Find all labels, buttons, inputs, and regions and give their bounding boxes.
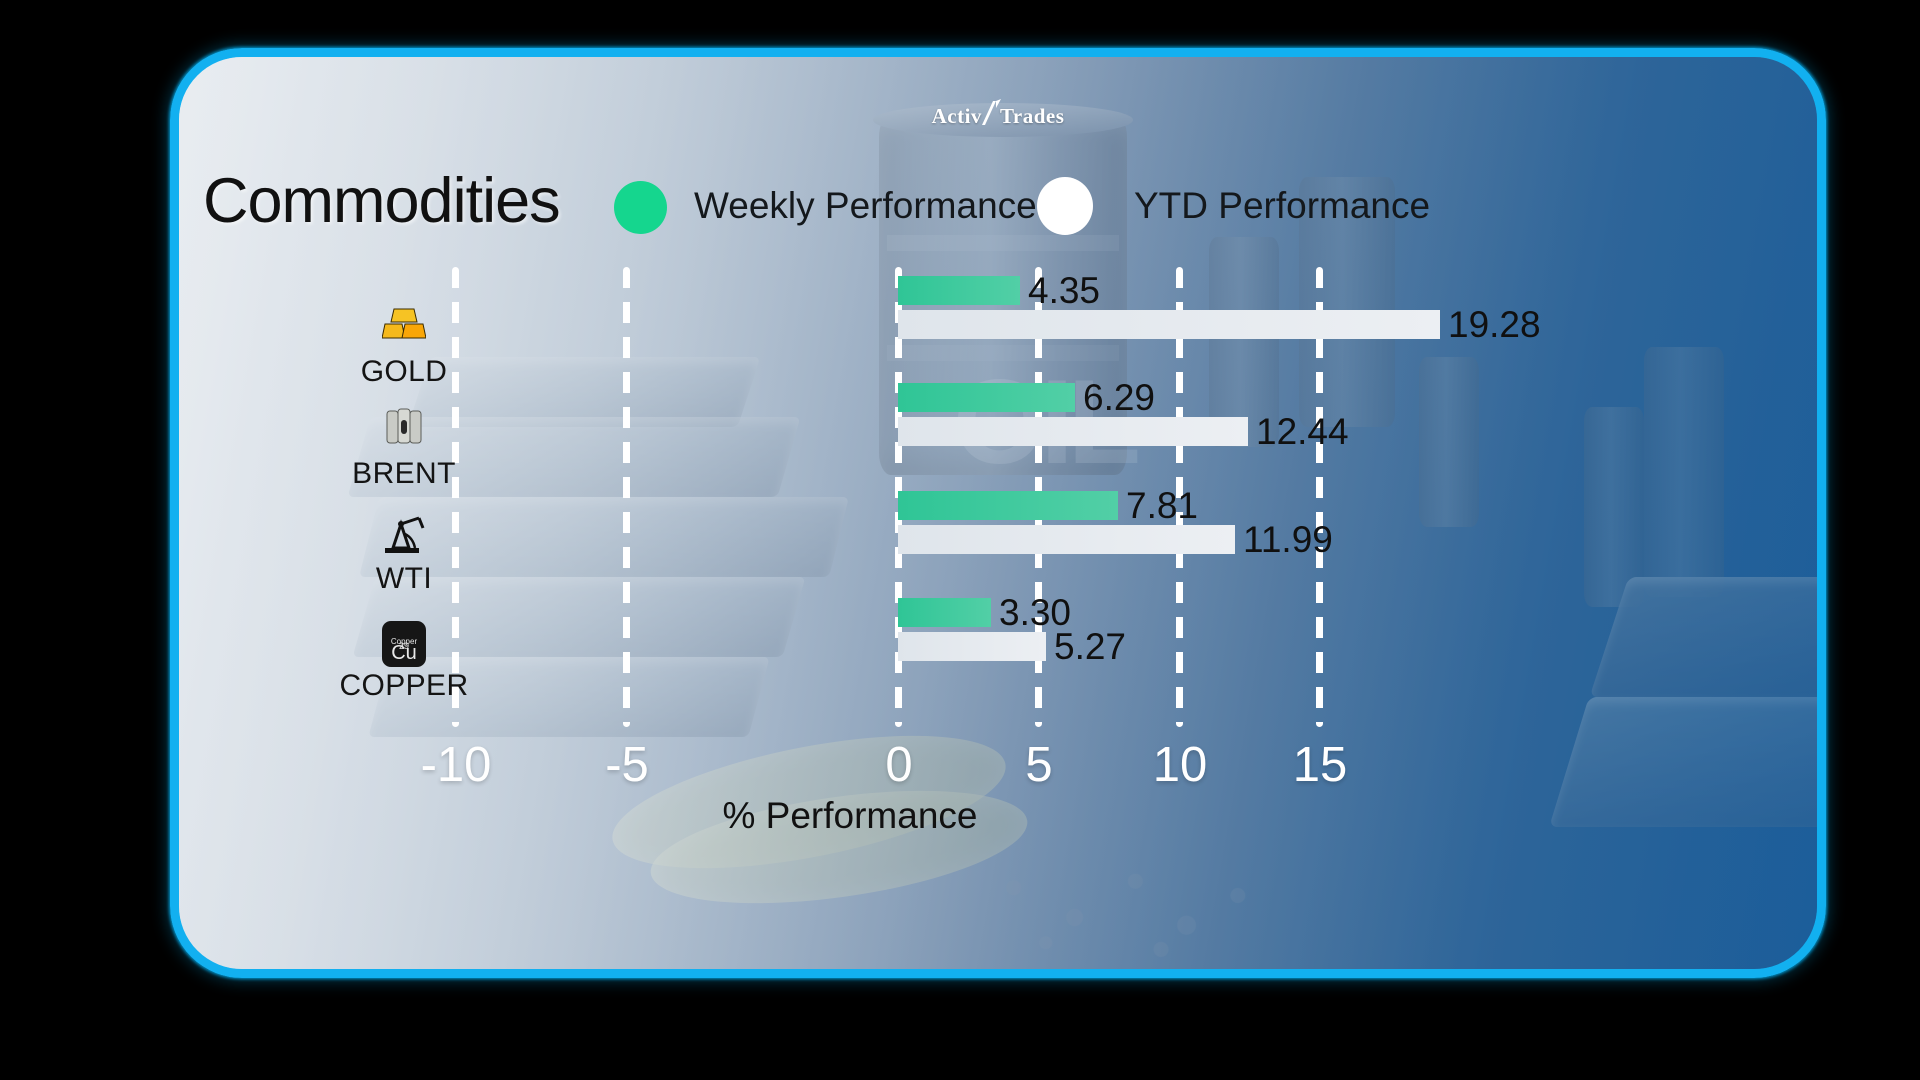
xtick-0: 0	[885, 737, 912, 793]
chart-card: OIL ActivTrades Commodities Weekly Perfo…	[170, 48, 1826, 978]
bar-ytd-gold[interactable]: 19.28	[898, 310, 1440, 339]
bar-value-label: 6.29	[1083, 377, 1155, 419]
bar-value-label: 5.27	[1054, 626, 1126, 668]
category-label: BRENT	[289, 457, 519, 491]
bar-weekly-copper[interactable]: 3.30	[898, 598, 991, 627]
screenshot-root: OIL ActivTrades Commodities Weekly Perfo…	[0, 0, 1920, 1080]
xtick-5: 5	[1025, 737, 1052, 793]
bar-ytd-brent[interactable]: 12.44	[898, 417, 1248, 446]
x-axis-title-wrap: % Performance	[179, 795, 1817, 837]
bar-value-label: 19.28	[1448, 304, 1541, 346]
bar-value-label: 4.35	[1028, 270, 1100, 312]
copper-word: Copper	[382, 619, 426, 665]
oil-pump-icon	[289, 512, 519, 558]
plot-area: GOLD BRENT	[179, 57, 1817, 969]
category-label: GOLD	[289, 355, 519, 389]
xtick--5: -5	[605, 737, 649, 793]
category-brent: BRENT	[289, 407, 519, 491]
bar-weekly-wti[interactable]: 7.81	[898, 491, 1118, 520]
xtick--10: -10	[421, 737, 492, 793]
bar-ytd-copper[interactable]: 5.27	[898, 632, 1046, 661]
bar-weekly-gold[interactable]: 4.35	[898, 276, 1020, 305]
bar-value-label: 11.99	[1243, 519, 1333, 561]
oil-barrel-icon	[289, 407, 519, 453]
x-axis-title: % Performance	[723, 795, 978, 836]
bar-value-label: 7.81	[1126, 485, 1198, 527]
copper-badge: 29 Cu Copper	[382, 621, 426, 667]
category-wti: WTI	[289, 512, 519, 596]
gold-bars-icon	[289, 305, 519, 351]
category-gold: GOLD	[289, 305, 519, 389]
bar-ytd-wti[interactable]: 11.99	[898, 525, 1235, 554]
bar-weekly-brent[interactable]: 6.29	[898, 383, 1075, 412]
xtick-10: 10	[1153, 737, 1208, 793]
category-copper: 29 Cu Copper COPPER	[289, 619, 519, 703]
xtick-15: 15	[1293, 737, 1348, 793]
copper-element-icon: 29 Cu Copper	[289, 619, 519, 665]
gridline--5	[623, 267, 630, 727]
bar-value-label: 12.44	[1256, 411, 1349, 453]
category-label: WTI	[289, 562, 519, 596]
